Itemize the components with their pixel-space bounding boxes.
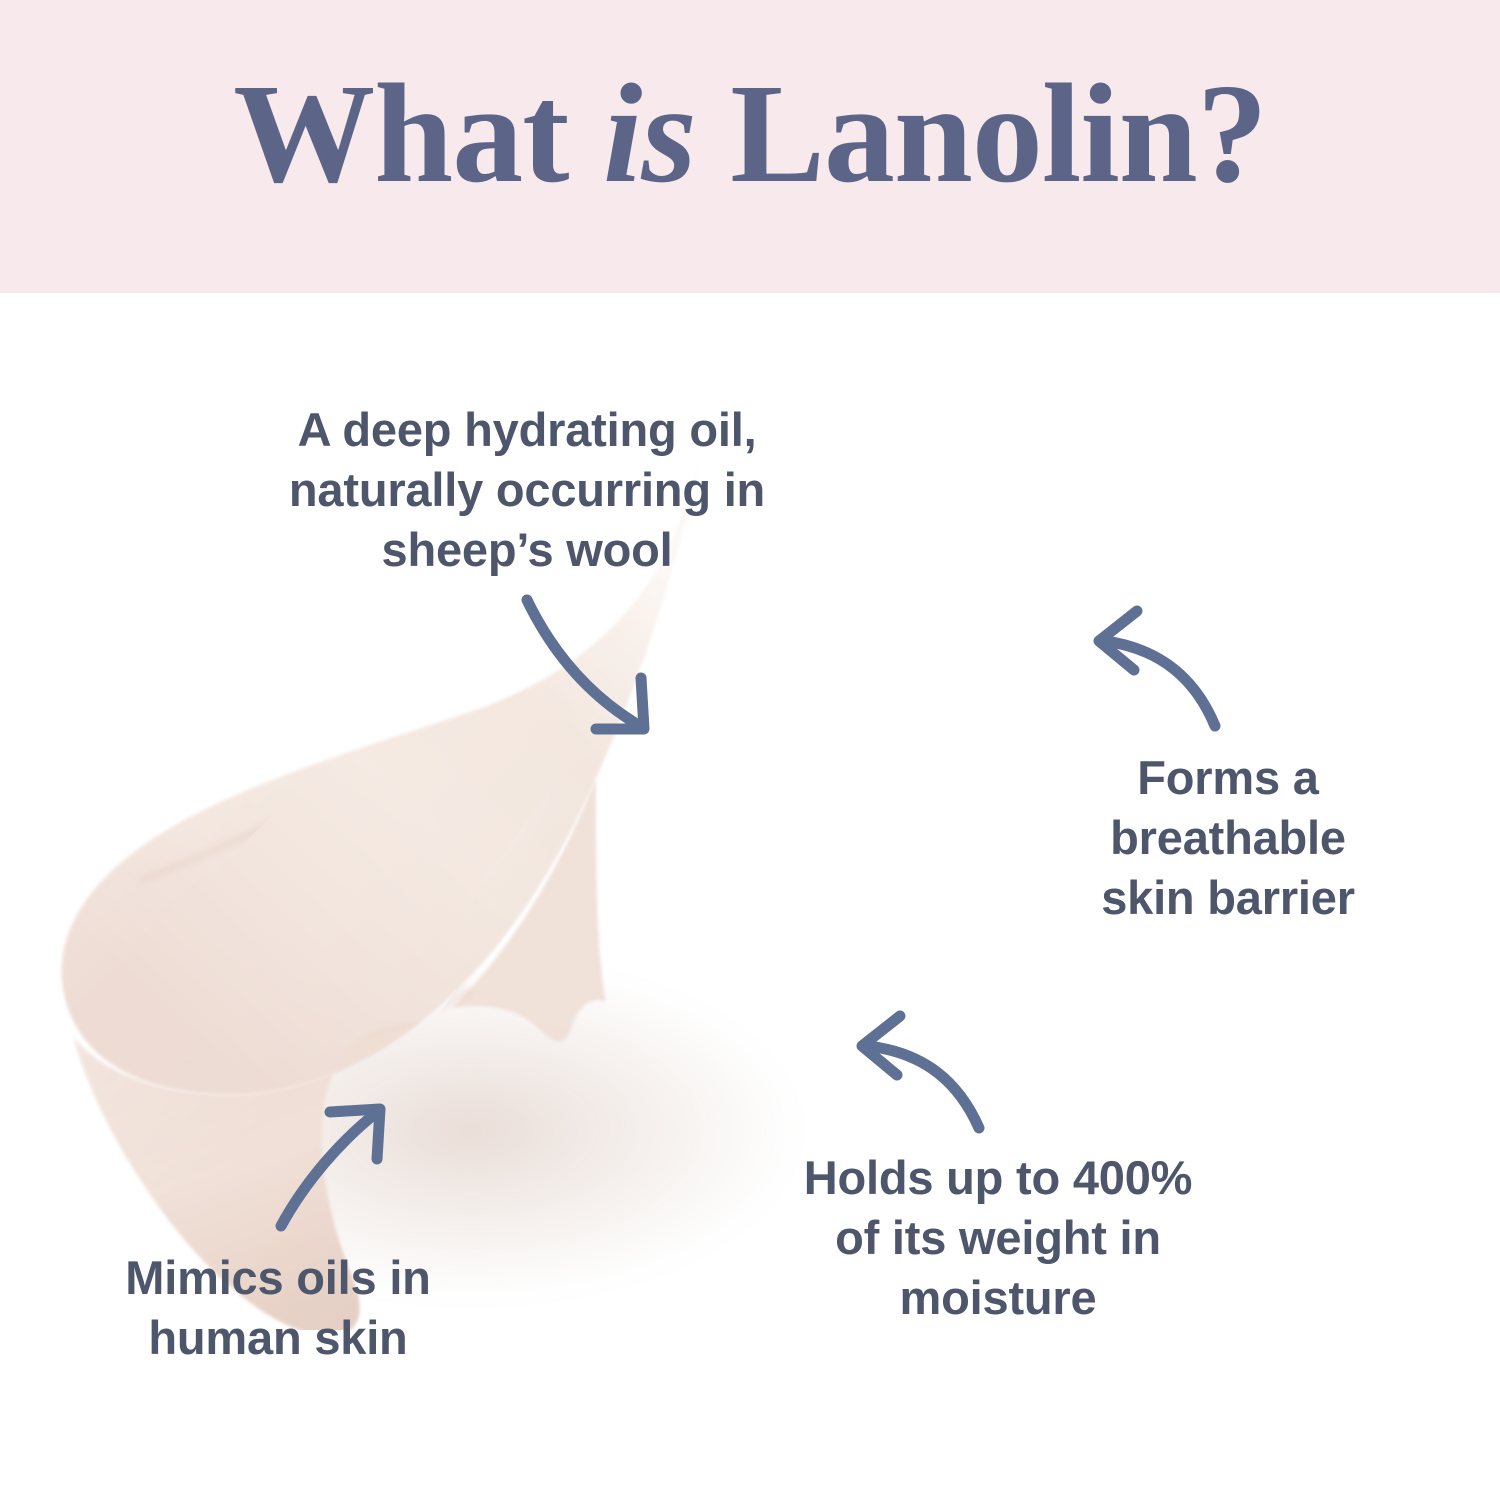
annotation-holds-moisture: Holds up to 400% of its weight in moistu… (738, 1148, 1258, 1328)
arrow-barrier-icon (1099, 611, 1215, 726)
page-title-emphasis: is (603, 54, 696, 212)
infographic-page: What is Lanolin? (0, 0, 1500, 1500)
page-title-part2: Lanolin? (696, 54, 1267, 212)
annotation-hydrating-oil: A deep hydrating oil, naturally occurrin… (222, 400, 832, 580)
cream-tail (452, 778, 606, 1042)
page-title: What is Lanolin? (0, 62, 1500, 204)
arrow-holds-icon (862, 1016, 979, 1128)
page-title-part1: What (233, 54, 603, 212)
annotation-breathable-barrier: Forms a breathable skin barrier (1058, 748, 1398, 928)
arrow-hydrating-icon (527, 600, 644, 729)
annotation-mimics-skin-oils: Mimics oils in human skin (78, 1248, 478, 1368)
header-band: What is Lanolin? (0, 0, 1500, 293)
arrow-mimics-icon (281, 1109, 380, 1226)
